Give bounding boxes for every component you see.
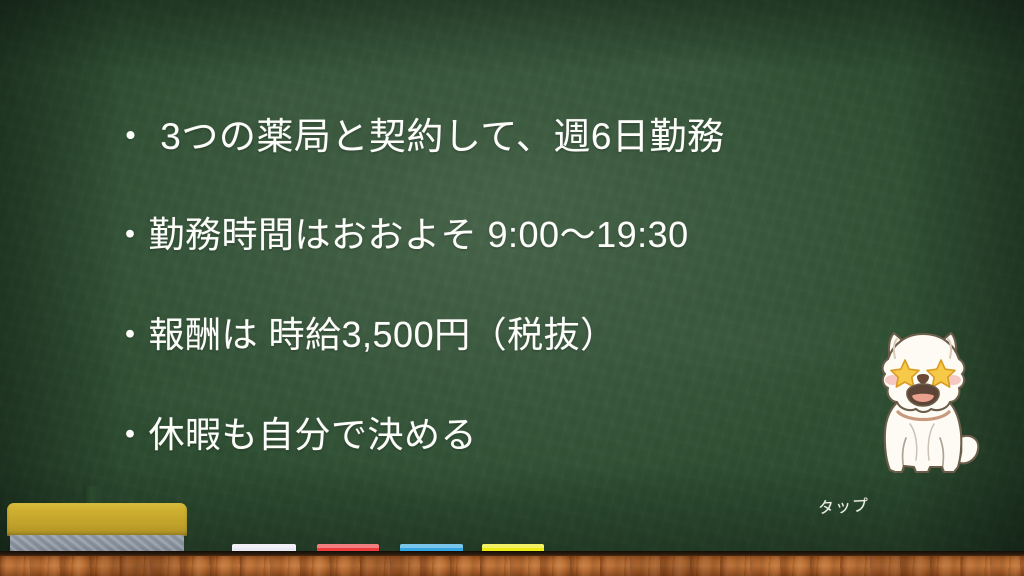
blackboard-eraser [7,486,187,556]
dog-mascot-icon [862,320,984,486]
bullet-item-2: ・勤務時間はおおよそ 9:00〜19:30 [112,217,902,253]
slide-canvas: ・ 3つの薬局と契約して、週6日勤務 ・勤務時間はおおよそ 9:00〜19:30… [0,0,1024,576]
wooden-ledge [0,556,1024,576]
bullet-item-1: ・ 3つの薬局と契約して、週6日勤務 [112,118,902,155]
eraser-body [7,503,187,536]
bullet-list: ・ 3つの薬局と契約して、週6日勤務 ・勤務時間はおおよそ 9:00〜19:30… [112,104,902,453]
bullet-item-3: ・報酬は 時給3,500円（税抜） [112,317,902,353]
bullet-item-4: ・休暇も自分で決める [112,417,902,453]
dog-caption-label: タップ [817,492,869,519]
